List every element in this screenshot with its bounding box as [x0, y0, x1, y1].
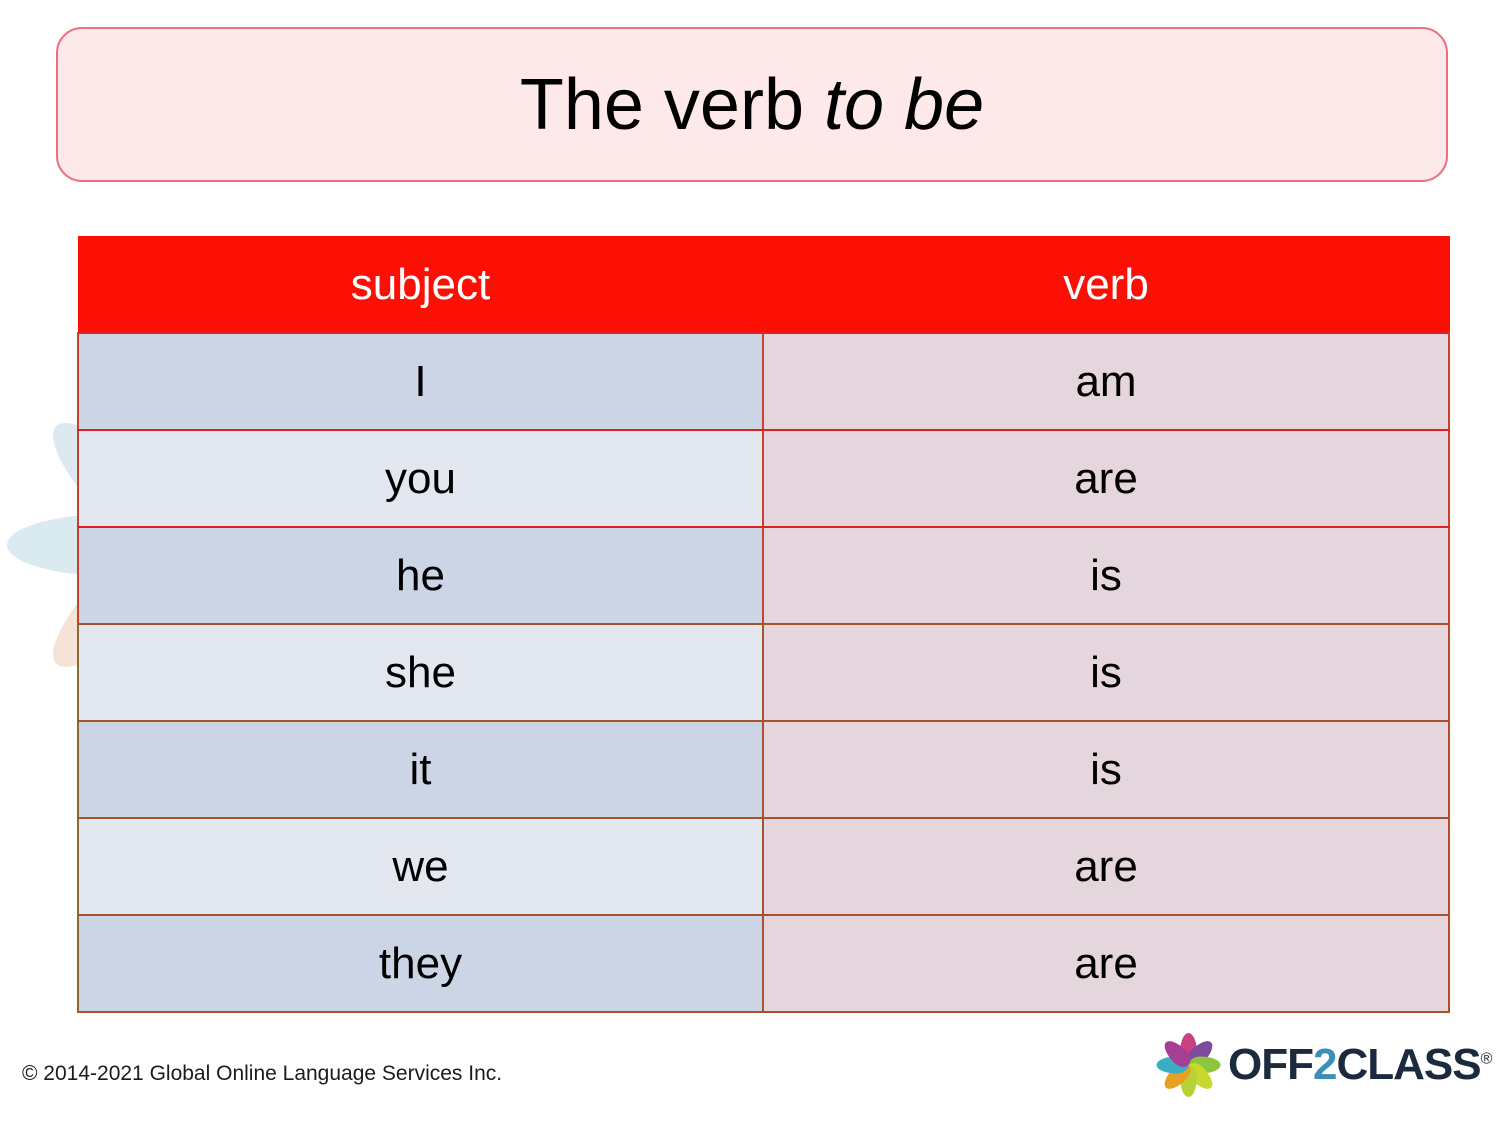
cell-subject: they: [78, 915, 763, 1012]
cell-verb: is: [763, 721, 1449, 818]
column-header-subject: subject: [78, 237, 763, 334]
table-row: you are: [78, 430, 1449, 527]
cell-subject: he: [78, 527, 763, 624]
table-row: it is: [78, 721, 1449, 818]
cell-verb: am: [763, 333, 1449, 430]
page-title: The verb to be: [520, 69, 984, 141]
flower-logo-icon: [1150, 1028, 1226, 1102]
cell-verb: are: [763, 818, 1449, 915]
table-row: they are: [78, 915, 1449, 1012]
cell-subject: we: [78, 818, 763, 915]
table-row: we are: [78, 818, 1449, 915]
table-row: she is: [78, 624, 1449, 721]
off2class-logo: OFF2CLASS®: [1150, 1028, 1480, 1102]
cell-verb: is: [763, 624, 1449, 721]
conjugation-table: subject verb I am you are he is she is i…: [77, 236, 1450, 1013]
cell-subject: she: [78, 624, 763, 721]
cell-verb: are: [763, 430, 1449, 527]
logo-word-part2: 2: [1313, 1040, 1336, 1089]
column-header-verb: verb: [763, 237, 1449, 334]
title-italic-phrase: to be: [824, 65, 984, 145]
cell-verb: is: [763, 527, 1449, 624]
copyright-text: © 2014-2021 Global Online Language Servi…: [22, 1062, 502, 1086]
logo-wordmark: OFF2CLASS®: [1228, 1043, 1491, 1087]
logo-word-part1: OFF: [1228, 1040, 1313, 1089]
cell-verb: are: [763, 915, 1449, 1012]
cell-subject: it: [78, 721, 763, 818]
table-row: he is: [78, 527, 1449, 624]
cell-subject: you: [78, 430, 763, 527]
title-box: The verb to be: [56, 27, 1448, 182]
logo-word-part3: CLASS: [1336, 1040, 1480, 1089]
table-row: I am: [78, 333, 1449, 430]
cell-subject: I: [78, 333, 763, 430]
logo-registered-mark: ®: [1481, 1050, 1492, 1067]
table-header-row: subject verb: [78, 237, 1449, 334]
title-prefix: The verb: [520, 65, 824, 145]
